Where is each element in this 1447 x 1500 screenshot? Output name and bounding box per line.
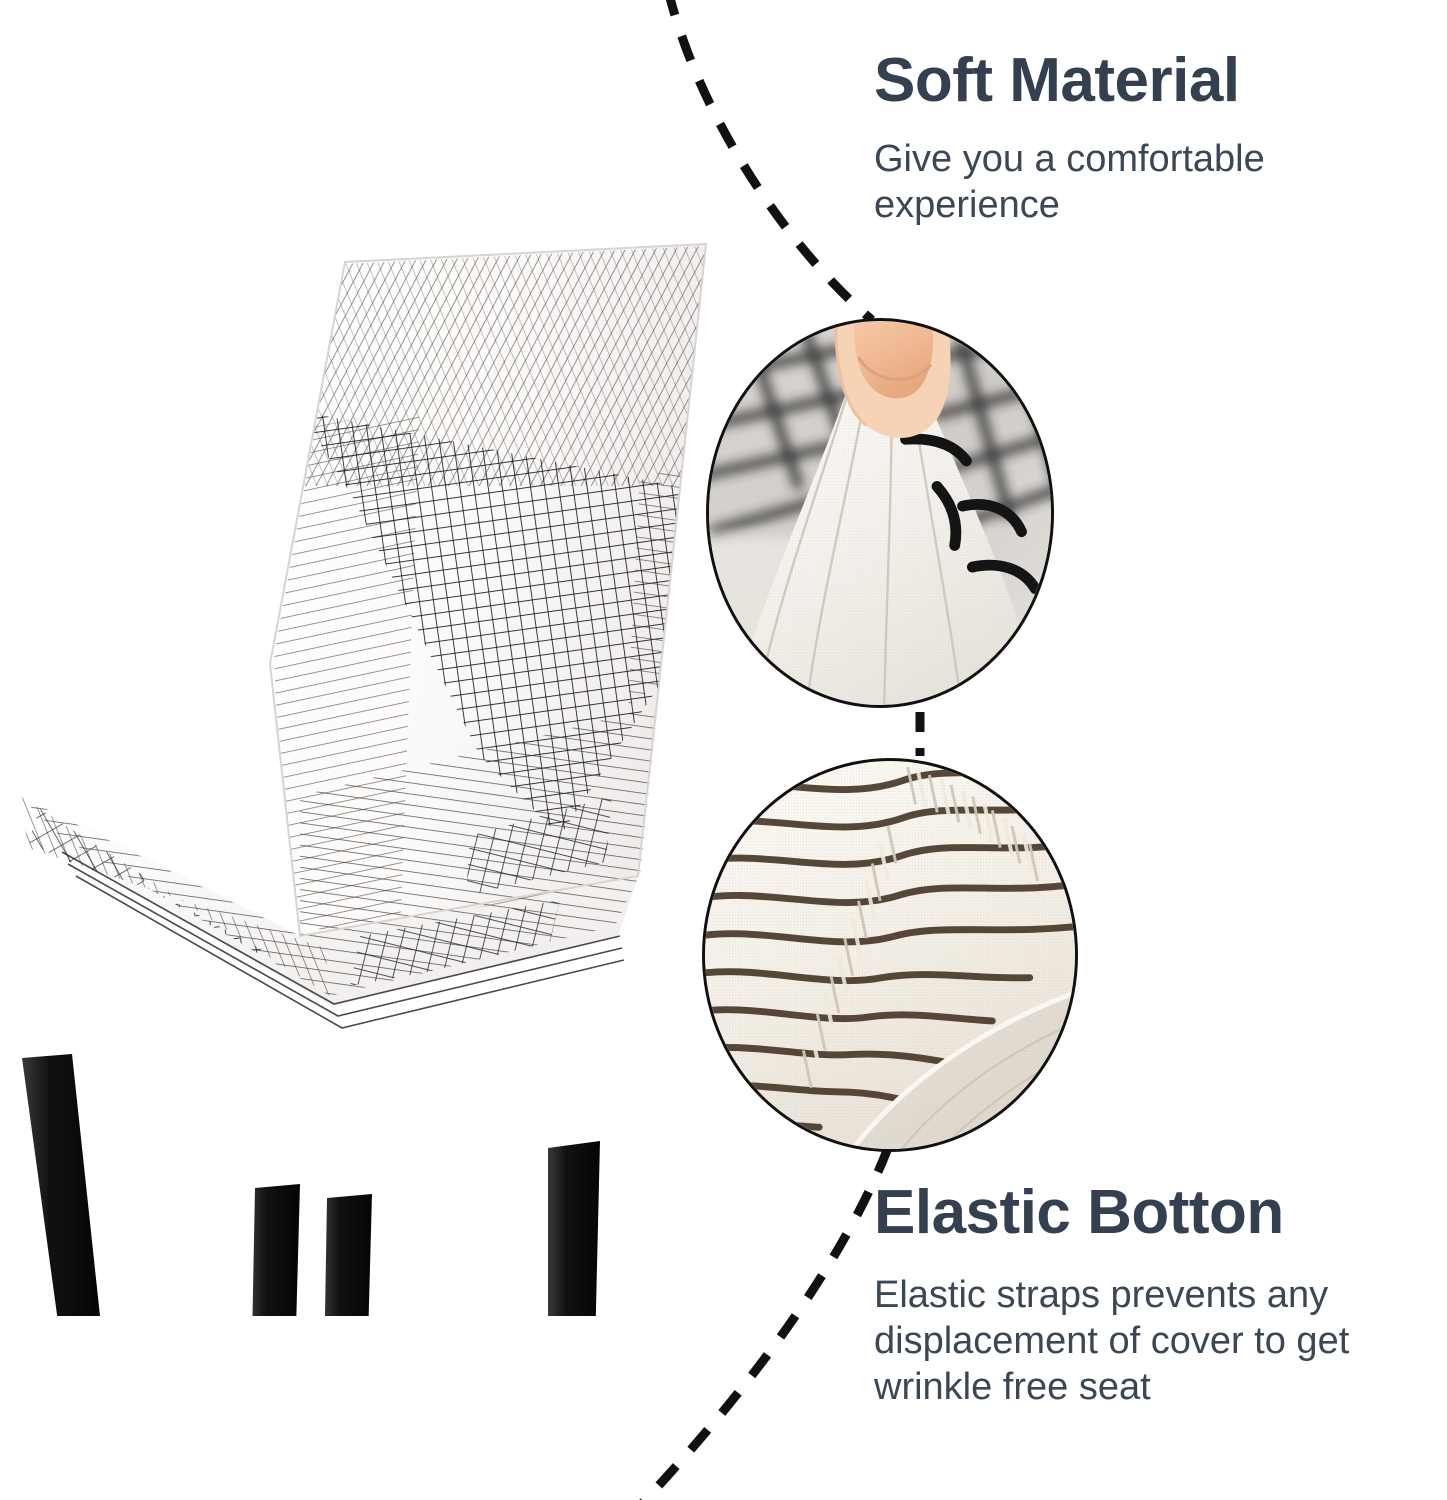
elastic-bottom-photo <box>705 761 1075 1149</box>
infographic-canvas: Soft Material Give you a comfortable exp… <box>0 0 1447 1500</box>
soft-material-heading: Soft Material <box>874 48 1394 114</box>
product-chair-image <box>0 236 740 1316</box>
feature-soft-material-text: Soft Material Give you a comfortable exp… <box>874 48 1394 228</box>
callout-soft-material <box>706 318 1054 708</box>
soft-material-description: Give you a comfortable experience <box>874 136 1394 229</box>
elastic-bottom-heading: Elastic Botton <box>874 1180 1434 1246</box>
soft-material-photo <box>709 321 1051 705</box>
chair-backrest <box>260 236 730 936</box>
callout-elastic-bottom <box>702 758 1078 1152</box>
chair-legs <box>22 1054 600 1316</box>
feature-elastic-bottom-text: Elastic Botton Elastic straps prevents a… <box>874 1180 1434 1411</box>
elastic-bottom-description: Elastic straps prevents any displacement… <box>874 1272 1434 1411</box>
